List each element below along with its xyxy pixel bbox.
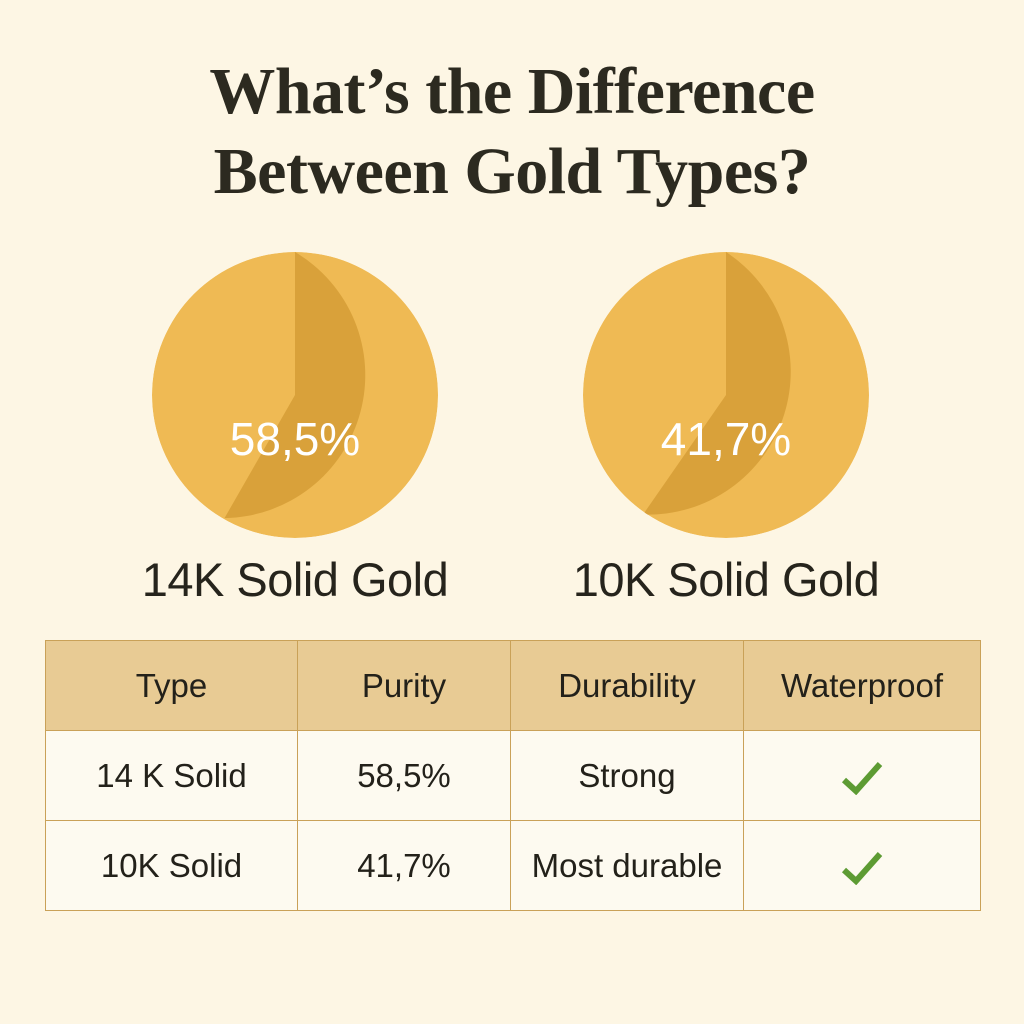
- cell-purity: 41,7%: [298, 821, 511, 911]
- table-row: 10K Solid 41,7% Most durable: [46, 821, 981, 911]
- page-title: What’s the Difference Between Gold Types…: [0, 52, 1024, 212]
- column-header-type: Type: [46, 641, 298, 731]
- column-header-durability: Durability: [511, 641, 744, 731]
- cell-purity: 58,5%: [298, 731, 511, 821]
- gold-comparison-table: Type Purity Durability Waterproof 14 K S…: [45, 640, 981, 911]
- pie-chart-10k-graphic: 41,7%: [583, 252, 869, 538]
- cell-durability: Strong: [511, 731, 744, 821]
- pie-10k-value-label: 41,7%: [583, 412, 869, 466]
- column-header-purity: Purity: [298, 641, 511, 731]
- page-title-line-1: What’s the Difference: [0, 52, 1024, 132]
- pie-10k-caption: 10K Solid Gold: [511, 552, 941, 607]
- pie-chart-14k: 58,5% 14K Solid Gold: [80, 252, 510, 542]
- cell-waterproof: [744, 731, 981, 821]
- table-body: 14 K Solid 58,5% Strong 10K Solid 41,7% …: [46, 731, 981, 911]
- cell-type: 14 K Solid: [46, 731, 298, 821]
- page-title-line-2: Between Gold Types?: [0, 132, 1024, 212]
- pie-14k-circle: [152, 252, 438, 538]
- pie-14k-caption: 14K Solid Gold: [80, 552, 510, 607]
- table-header: Type Purity Durability Waterproof: [46, 641, 981, 731]
- cell-waterproof: [744, 821, 981, 911]
- checkmark-icon: [841, 851, 883, 885]
- table-row: 14 K Solid 58,5% Strong: [46, 731, 981, 821]
- checkmark-icon: [841, 761, 883, 795]
- pie-14k-svg: [152, 252, 438, 538]
- pie-10k-svg: [583, 252, 869, 538]
- cell-type: 10K Solid: [46, 821, 298, 911]
- column-header-waterproof: Waterproof: [744, 641, 981, 731]
- pie-chart-14k-graphic: 58,5%: [152, 252, 438, 538]
- pie-chart-10k: 41,7% 10K Solid Gold: [511, 252, 941, 542]
- pie-14k-value-label: 58,5%: [152, 412, 438, 466]
- table-header-row: Type Purity Durability Waterproof: [46, 641, 981, 731]
- pie-charts-row: 58,5% 14K Solid Gold 41,7% 10K Solid Gol…: [0, 252, 1024, 542]
- cell-durability: Most durable: [511, 821, 744, 911]
- pie-10k-circle: [583, 252, 869, 538]
